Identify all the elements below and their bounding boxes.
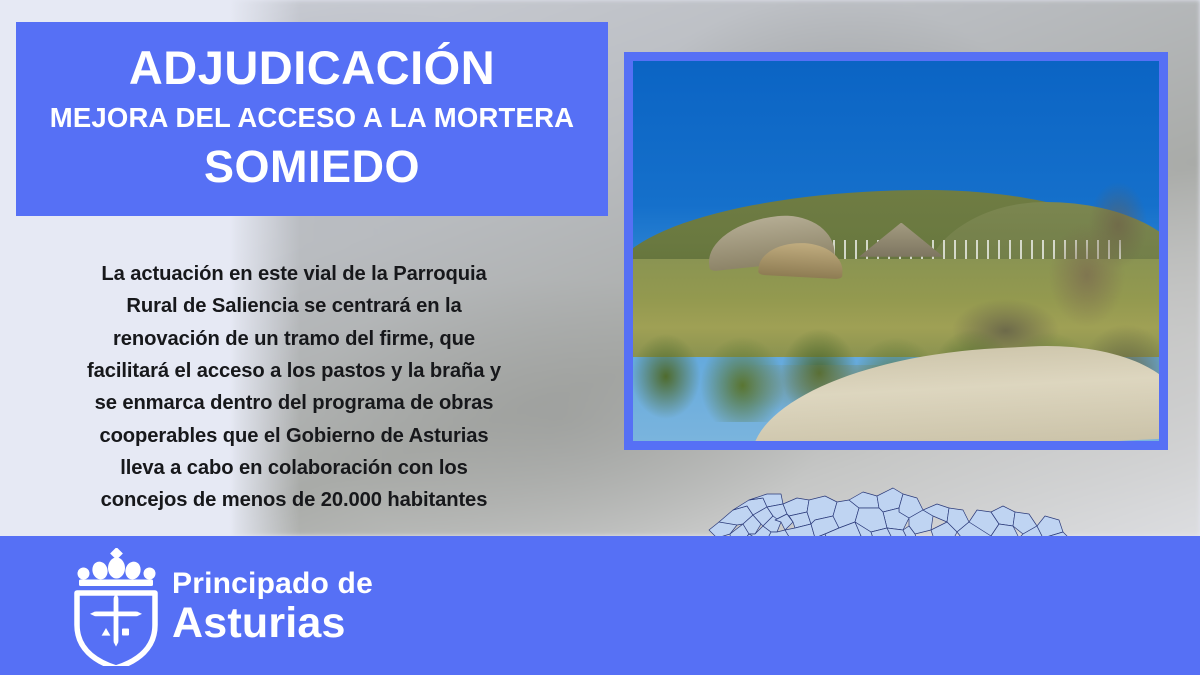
body-line: concejos de menos de 20.000 habitantes <box>38 484 550 516</box>
body-line: facilitará el acceso a los pastos y la b… <box>38 355 550 387</box>
body-line: renovación de un tramo del firme, que <box>38 323 550 355</box>
brand-lockup: Principado de Asturias <box>172 568 373 646</box>
body-line: cooperables que el Gobierno de Asturias <box>38 420 550 452</box>
brand-line-asturias: Asturias <box>172 601 373 647</box>
page-title: ADJUDICACIÓN <box>129 44 495 92</box>
victory-cross-icon <box>90 593 142 647</box>
page-subtitle: MEJORA DEL ACCESO A LA MORTERA <box>50 101 574 135</box>
landscape-photo <box>633 61 1159 441</box>
body-line: La actuación en este vial de la Parroqui… <box>38 258 550 290</box>
omega-pendant <box>122 629 129 636</box>
principado-asturias-crest-icon <box>62 548 170 666</box>
page-place-name: SOMIEDO <box>204 143 420 190</box>
body-line: lleva a cabo en colaboración con los <box>38 452 550 484</box>
body-line: se enmarca dentro del programa de obras <box>38 387 550 419</box>
body-paragraph: La actuación en este vial de la Parroqui… <box>38 258 550 517</box>
body-line: Rural de Saliencia se centrará en la <box>38 290 550 322</box>
photo-frame <box>624 52 1168 450</box>
alpha-pendant <box>102 628 111 636</box>
brand-line-principado: Principado de <box>172 568 373 600</box>
poster-canvas: ADJUDICACIÓN MEJORA DEL ACCESO A LA MORT… <box>0 0 1200 675</box>
title-panel: ADJUDICACIÓN MEJORA DEL ACCESO A LA MORT… <box>16 22 608 216</box>
